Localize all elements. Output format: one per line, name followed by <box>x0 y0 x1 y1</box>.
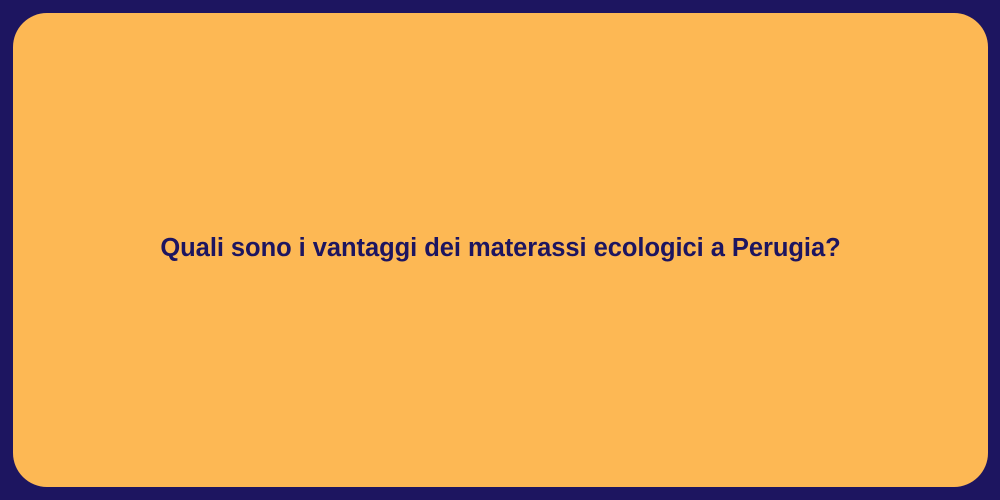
outer-border-frame: Quali sono i vantaggi dei materassi ecol… <box>0 0 1000 500</box>
question-card: Quali sono i vantaggi dei materassi ecol… <box>13 13 988 487</box>
question-heading: Quali sono i vantaggi dei materassi ecol… <box>160 233 840 265</box>
